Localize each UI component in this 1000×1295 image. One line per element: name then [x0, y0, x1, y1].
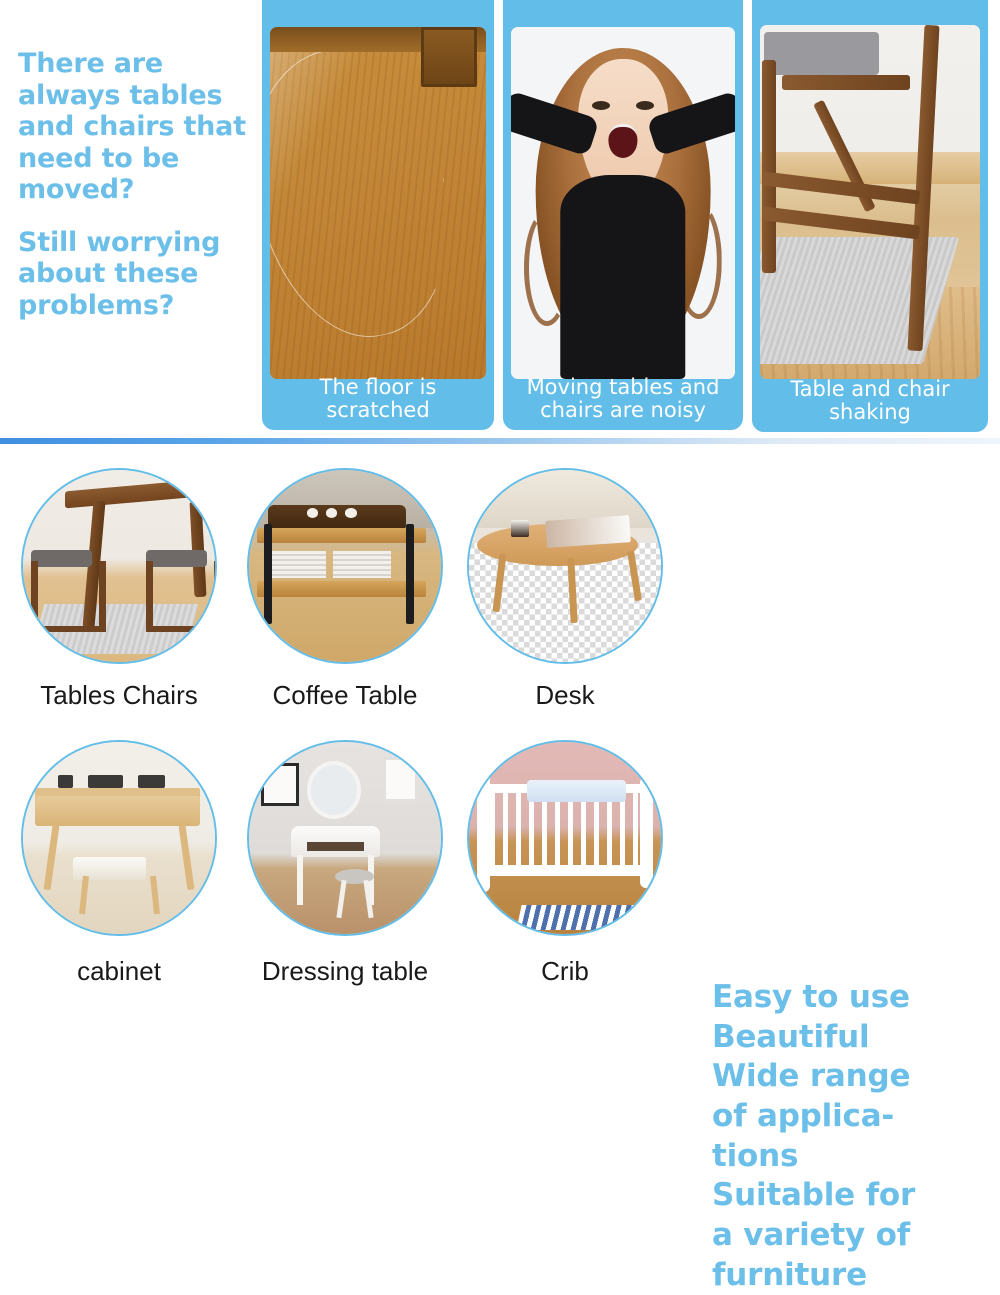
- application-item-dressing-table: Dressing table: [232, 722, 458, 994]
- dressing-table-photo: [247, 740, 443, 936]
- scratched-floor-photo: [270, 27, 486, 379]
- crib-photo: [467, 740, 663, 936]
- problem-panel-floor-scratched: The floor is scratched: [262, 0, 494, 430]
- application-label-1: Tables Chairs: [6, 680, 232, 711]
- application-item-desk: Desk: [452, 452, 678, 724]
- application-label-6: Crib: [452, 956, 678, 987]
- coffee-table-photo: [247, 468, 443, 664]
- application-label-2: Coffee Table: [232, 680, 458, 711]
- problem-panel-noisy: Moving tables and chairs are noisy: [503, 0, 743, 430]
- chair-leg-photo: [760, 25, 980, 379]
- problems-section: There are always tables and chairs that …: [0, 0, 1000, 438]
- problem-caption-3: Table and chair shaking: [752, 378, 988, 425]
- benefit-line-5: tions: [712, 1137, 982, 1177]
- benefit-line-1: Easy to use: [712, 978, 982, 1018]
- problem-caption-1: The floor is scratched: [262, 376, 494, 423]
- benefit-line-2: Beautiful: [712, 1018, 982, 1058]
- application-label-3: Desk: [452, 680, 678, 711]
- application-label-5: Dressing table: [232, 956, 458, 987]
- cabinet-photo: [21, 740, 217, 936]
- infographic-canvas: There are always tables and chairs that …: [0, 0, 1000, 1000]
- applications-grid: Tables Chairs: [0, 444, 678, 1000]
- benefit-line-6: Suitable for: [712, 1176, 982, 1216]
- application-item-coffee-table: Coffee Table: [232, 452, 458, 724]
- headline-block: There are always tables and chairs that …: [18, 48, 248, 322]
- screaming-girl-photo: [511, 27, 735, 379]
- applications-section: Tables Chairs: [0, 444, 1000, 1000]
- benefit-line-4: of applica-: [712, 1097, 982, 1137]
- desk-photo: [467, 468, 663, 664]
- benefit-line-8: furniture: [712, 1256, 982, 1295]
- problem-caption-2: Moving tables and chairs are noisy: [503, 376, 743, 423]
- headline-line-2: Still worrying about these problems?: [18, 227, 248, 322]
- application-item-tables-chairs: Tables Chairs: [6, 452, 232, 724]
- benefit-line-3: Wide range: [712, 1057, 982, 1097]
- tables-chairs-photo: [21, 468, 217, 664]
- application-item-cabinet: cabinet: [6, 722, 232, 994]
- benefits-block: Easy to use Beautiful Wide range of appl…: [712, 978, 982, 1295]
- headline-line-1: There are always tables and chairs that …: [18, 48, 246, 205]
- application-label-4: cabinet: [6, 956, 232, 987]
- benefit-line-7: a variety of: [712, 1216, 982, 1256]
- problem-panel-shaking: Table and chair shaking: [752, 0, 988, 432]
- application-item-crib: Crib: [452, 722, 678, 994]
